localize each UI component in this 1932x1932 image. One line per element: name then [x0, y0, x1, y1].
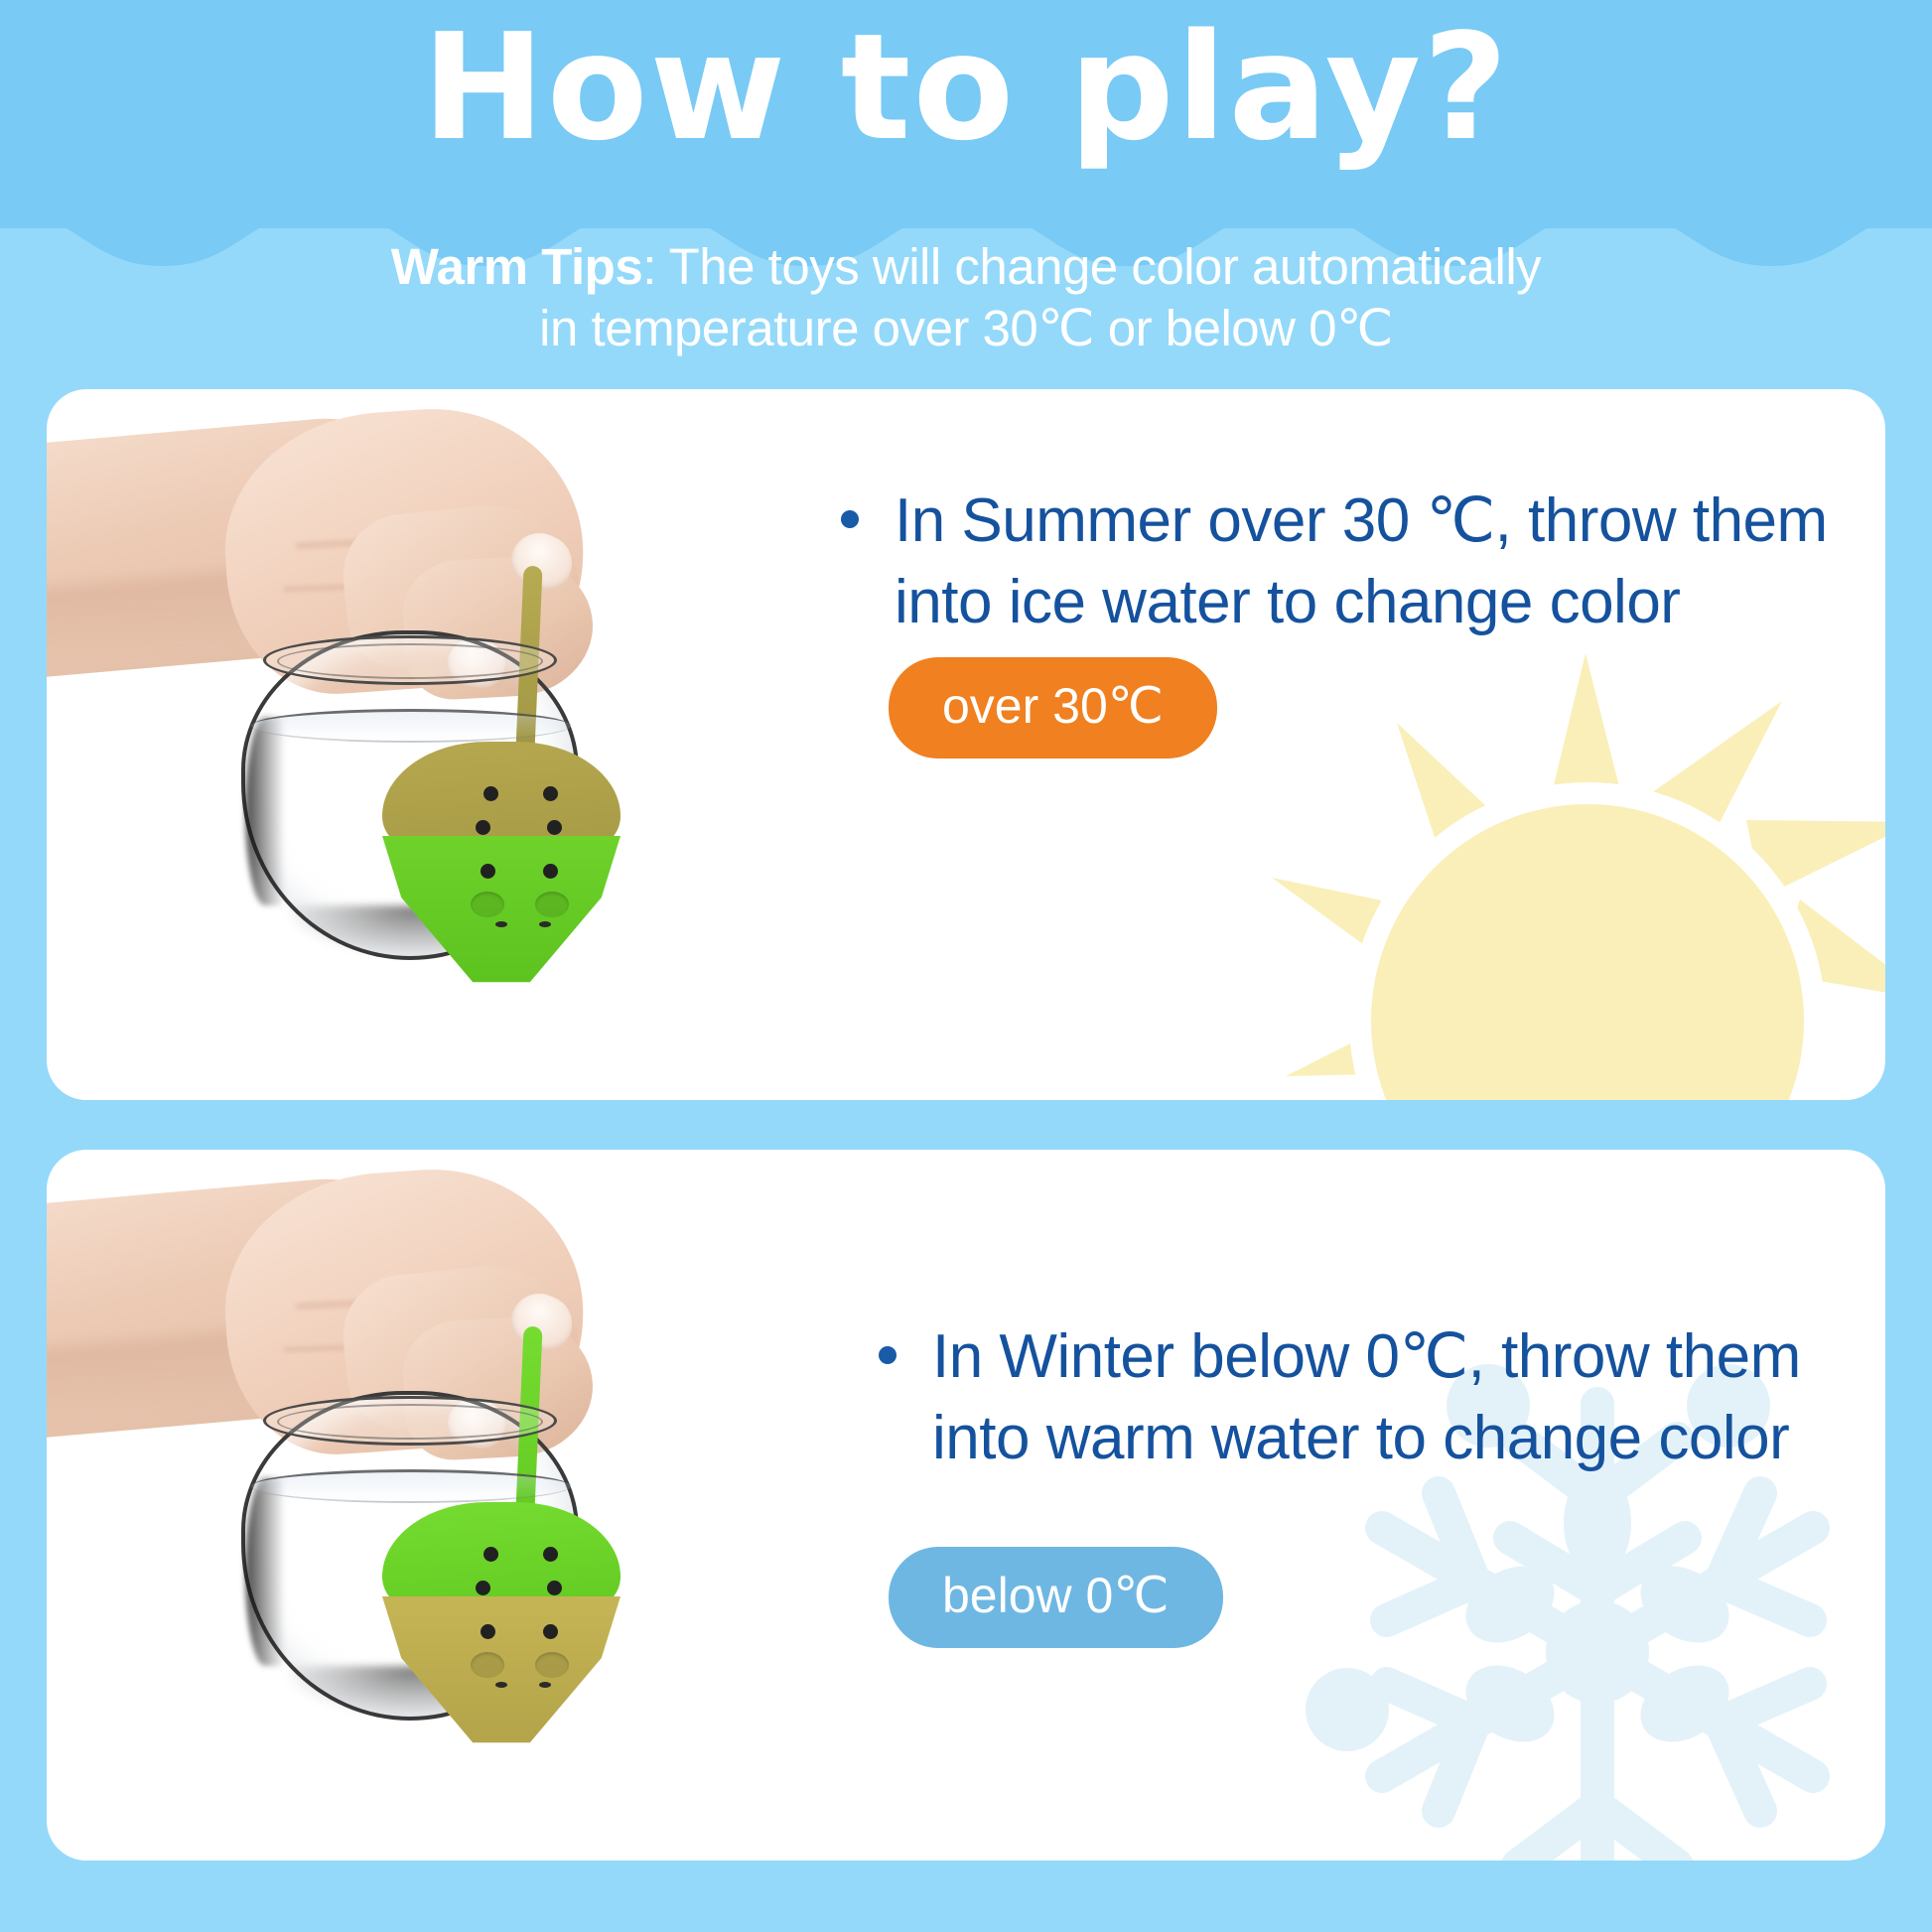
stingray-spot — [543, 1624, 558, 1639]
bowl-rim-inner — [277, 643, 543, 679]
stingray-spot — [543, 1547, 558, 1562]
stingray-body-below-water — [382, 836, 621, 990]
warm-tips-separator: : — [642, 238, 668, 295]
page-title: How to play? — [0, 14, 1932, 161]
bullet-winter-text: In Winter below 0℃, throw them into warm… — [932, 1316, 1801, 1479]
water-surface-line — [251, 709, 571, 743]
stingray-spot — [543, 864, 558, 879]
card-winter: In Winter below 0℃, throw them into warm… — [47, 1150, 1885, 1861]
content-summer: In Summer over 30 ℃, throw them into ice… — [831, 389, 1883, 1100]
bullet-summer-text: In Summer over 30 ℃, throw them into ice… — [895, 481, 1828, 643]
water-surface-line — [251, 1469, 571, 1503]
stingray-spot — [476, 820, 490, 835]
bullet-winter-line1: In Winter below 0℃, throw them — [932, 1322, 1801, 1391]
bowl-shadow-left — [245, 1477, 285, 1666]
stingray-spot — [483, 1547, 498, 1562]
stingray-nostril — [535, 1652, 569, 1678]
how-to-play-infographic: How to play? Warm Tips: The toys will ch… — [0, 0, 1932, 1932]
bullet-dot-icon — [879, 1346, 897, 1364]
bowl-shadow-left — [245, 717, 285, 905]
bullet-summer-line2: into ice water to change color — [895, 568, 1680, 636]
stingray-mouth — [495, 1682, 507, 1688]
warm-tips-line1: The toys will change color automatically — [669, 238, 1542, 295]
stingray-spot — [476, 1581, 490, 1595]
stingray-spot — [481, 1624, 495, 1639]
photo-winter — [47, 1150, 781, 1861]
photo-summer — [47, 389, 781, 1100]
bullet-summer: In Summer over 30 ℃, throw them into ice… — [841, 481, 1873, 643]
card-summer: In Summer over 30 ℃, throw them into ice… — [47, 389, 1885, 1100]
bullet-dot-icon — [841, 510, 859, 528]
stingray-spot — [481, 864, 495, 879]
bullet-winter-line2: into warm water to change color — [932, 1404, 1789, 1472]
stingray-spot — [543, 786, 558, 801]
stingray-nostril — [471, 892, 504, 917]
warm-tips-label: Warm Tips — [391, 238, 642, 295]
stingray-nostril — [471, 1652, 504, 1678]
stingray-body-below-water — [382, 1596, 621, 1750]
content-winter: In Winter below 0℃, throw them into warm… — [831, 1150, 1883, 1861]
badge-over-30c[interactable]: over 30℃ — [889, 657, 1217, 759]
stingray-spot — [483, 786, 498, 801]
bullet-summer-line1: In Summer over 30 ℃, throw them — [895, 486, 1828, 555]
bowl-rim-inner — [277, 1404, 543, 1440]
warm-tips-line2: in temperature over 30℃ or below 0℃ — [539, 300, 1393, 356]
stingray-spot — [547, 820, 562, 835]
bullet-winter: In Winter below 0℃, throw them into warm… — [879, 1316, 1885, 1479]
stingray-spot — [547, 1581, 562, 1595]
stingray-mouth — [495, 921, 507, 927]
stingray-mouth — [539, 921, 551, 927]
badge-below-0c[interactable]: below 0℃ — [889, 1547, 1223, 1648]
stingray-nostril — [535, 892, 569, 917]
warm-tips-text: Warm Tips: The toys will change color au… — [0, 236, 1932, 359]
stingray-mouth — [539, 1682, 551, 1688]
